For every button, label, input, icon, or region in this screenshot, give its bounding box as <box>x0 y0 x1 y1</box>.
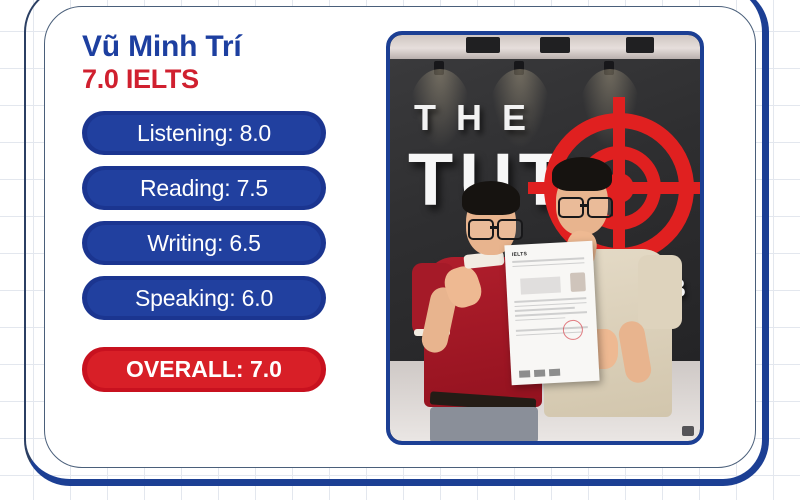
overall-score-label: OVERALL: 7.0 <box>126 356 282 383</box>
ceiling-bar <box>540 37 570 53</box>
score-pill-writing: Writing: 6.5 <box>82 221 326 265</box>
right-person-sleeve <box>638 255 682 329</box>
poster-canvas: Vũ Minh Trí 7.0 IELTS Listening: 8.0 Rea… <box>0 0 800 500</box>
left-person-hair <box>462 181 520 215</box>
left-person-glasses <box>468 219 516 237</box>
scores-column: Vũ Minh Trí 7.0 IELTS Listening: 8.0 Rea… <box>44 6 374 468</box>
score-pill-reading-label: Reading: 7.5 <box>140 175 268 202</box>
score-pill-speaking: Speaking: 6.0 <box>82 276 326 320</box>
student-photo-frame: THE TUT B <box>386 31 704 445</box>
score-pill-speaking-label: Speaking: 6.0 <box>135 285 273 312</box>
certificate-name-box <box>520 277 561 295</box>
score-pill-listening-label: Listening: 8.0 <box>137 120 271 147</box>
certificate-title: IELTS <box>512 248 586 258</box>
ielts-certificate: IELTS <box>504 241 599 385</box>
poster-content: Vũ Minh Trí 7.0 IELTS Listening: 8.0 Rea… <box>44 6 756 468</box>
wall-sign-the: THE <box>414 97 546 139</box>
ceiling-bar <box>466 37 500 53</box>
certificate-photo <box>570 272 586 292</box>
score-pill-reading: Reading: 7.5 <box>82 166 326 210</box>
ceiling-bar <box>626 37 654 53</box>
headline-score: 7.0 IELTS <box>82 66 374 93</box>
overall-score-pill: OVERALL: 7.0 <box>82 347 326 392</box>
student-photo: THE TUT B <box>390 35 700 441</box>
score-pill-listening: Listening: 8.0 <box>82 111 326 155</box>
left-person-pants <box>430 407 538 441</box>
right-person-hair <box>552 157 612 191</box>
certificate-logos <box>519 369 560 378</box>
photo-watermark <box>682 426 694 436</box>
student-name: Vũ Minh Trí <box>82 32 374 62</box>
right-person-glasses <box>558 197 608 215</box>
certificate-stamp <box>562 319 583 340</box>
score-pill-writing-label: Writing: 6.5 <box>147 230 261 257</box>
